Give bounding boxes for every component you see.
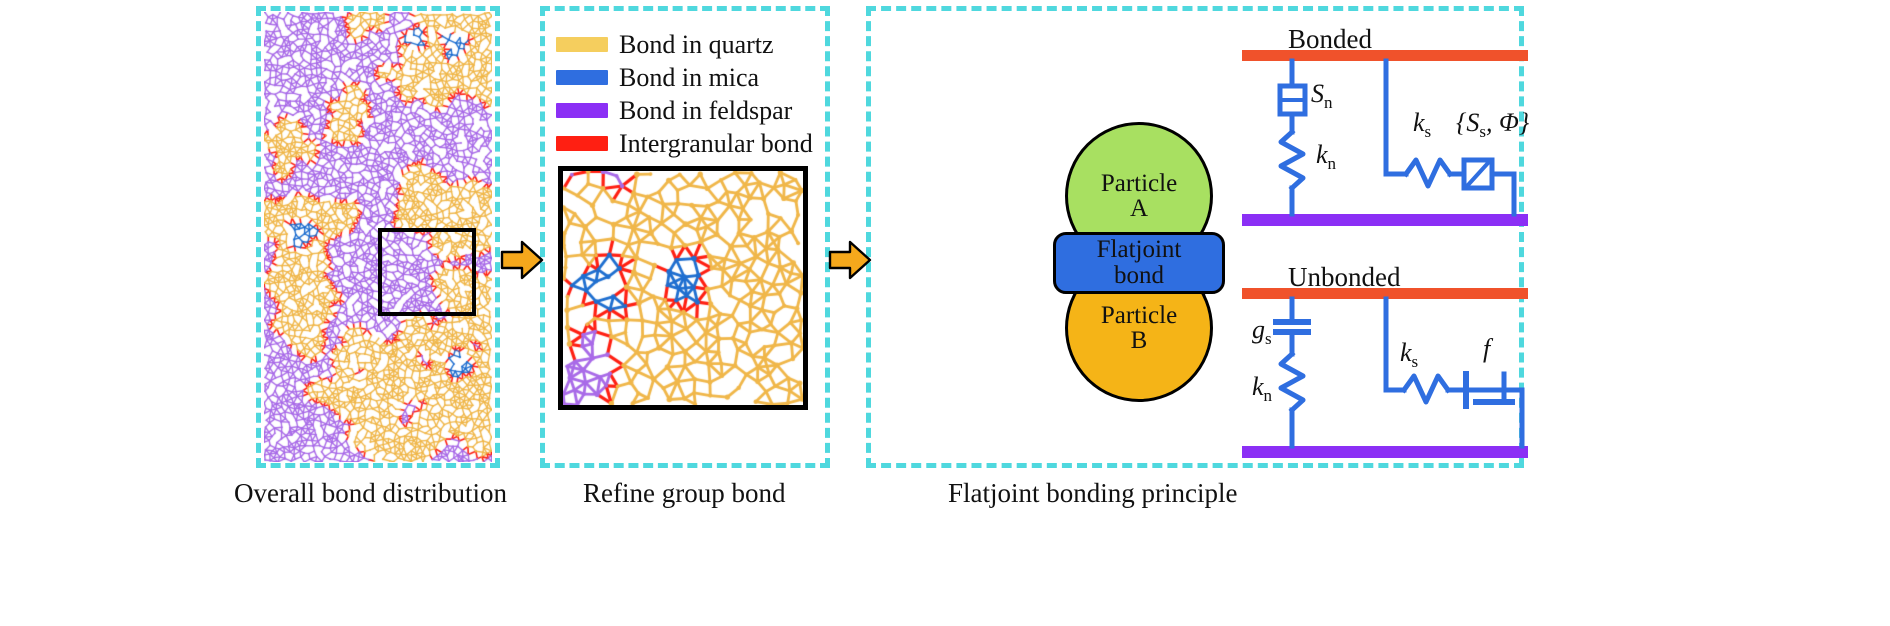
label-unbonded-kn: kn	[1252, 372, 1272, 406]
particle-a-line2: A	[1130, 196, 1148, 222]
flatjoint-line2: bond	[1114, 263, 1164, 289]
legend-item-mica: Bond in mica	[556, 61, 836, 94]
label-unbonded-ks: ks	[1400, 338, 1418, 372]
caption-refine: Refine group bond	[583, 478, 785, 509]
legend-swatch-intergranular	[556, 136, 608, 151]
label-bonded-Sn: Sn	[1311, 79, 1333, 113]
legend-item-quartz: Bond in quartz	[556, 28, 836, 61]
legend-label-feldspar: Bond in feldspar	[619, 98, 792, 124]
caption-flatjoint: Flatjoint bonding principle	[948, 478, 1237, 509]
label-unbonded-f: f	[1483, 334, 1490, 364]
legend-swatch-feldspar	[556, 103, 608, 118]
particle-a-line1: Particle	[1101, 171, 1177, 197]
caption-overall: Overall bond distribution	[234, 478, 507, 509]
arrow-refine-to-stack	[828, 238, 872, 282]
legend-swatch-mica	[556, 70, 608, 85]
unbonded-schematic	[1228, 262, 1528, 467]
legend-item-feldspar: Bond in feldspar	[556, 94, 836, 127]
particle-flatjoint-stack: Particle A Particle B Flatjoint bond	[1053, 122, 1225, 402]
flatjoint-bond-box: Flatjoint bond	[1053, 232, 1225, 294]
legend-label-intergranular: Intergranular bond	[619, 131, 813, 157]
bonded-bottom-bar	[1242, 214, 1528, 226]
aggregate-refine-image	[558, 166, 808, 410]
label-bonded-kn: kn	[1316, 140, 1336, 174]
aggregate-overall-image	[264, 12, 492, 462]
label-unbonded-gs: gs	[1252, 315, 1272, 349]
particle-b-line1: Particle	[1101, 303, 1177, 329]
unbonded-bottom-bar	[1242, 446, 1528, 458]
arrow-overall-to-refine	[500, 238, 544, 282]
legend-item-intergranular: Intergranular bond	[556, 127, 836, 160]
legend-label-quartz: Bond in quartz	[619, 32, 774, 58]
particle-b-line2: B	[1131, 328, 1148, 354]
flatjoint-line1: Flatjoint	[1097, 237, 1182, 263]
label-bonded-shear-set: {Ss, Φ}	[1456, 108, 1529, 142]
label-bonded-ks: ks	[1413, 108, 1431, 142]
bond-legend: Bond in quartz Bond in mica Bond in feld…	[556, 28, 836, 160]
legend-swatch-quartz	[556, 37, 608, 52]
legend-label-mica: Bond in mica	[619, 65, 759, 91]
